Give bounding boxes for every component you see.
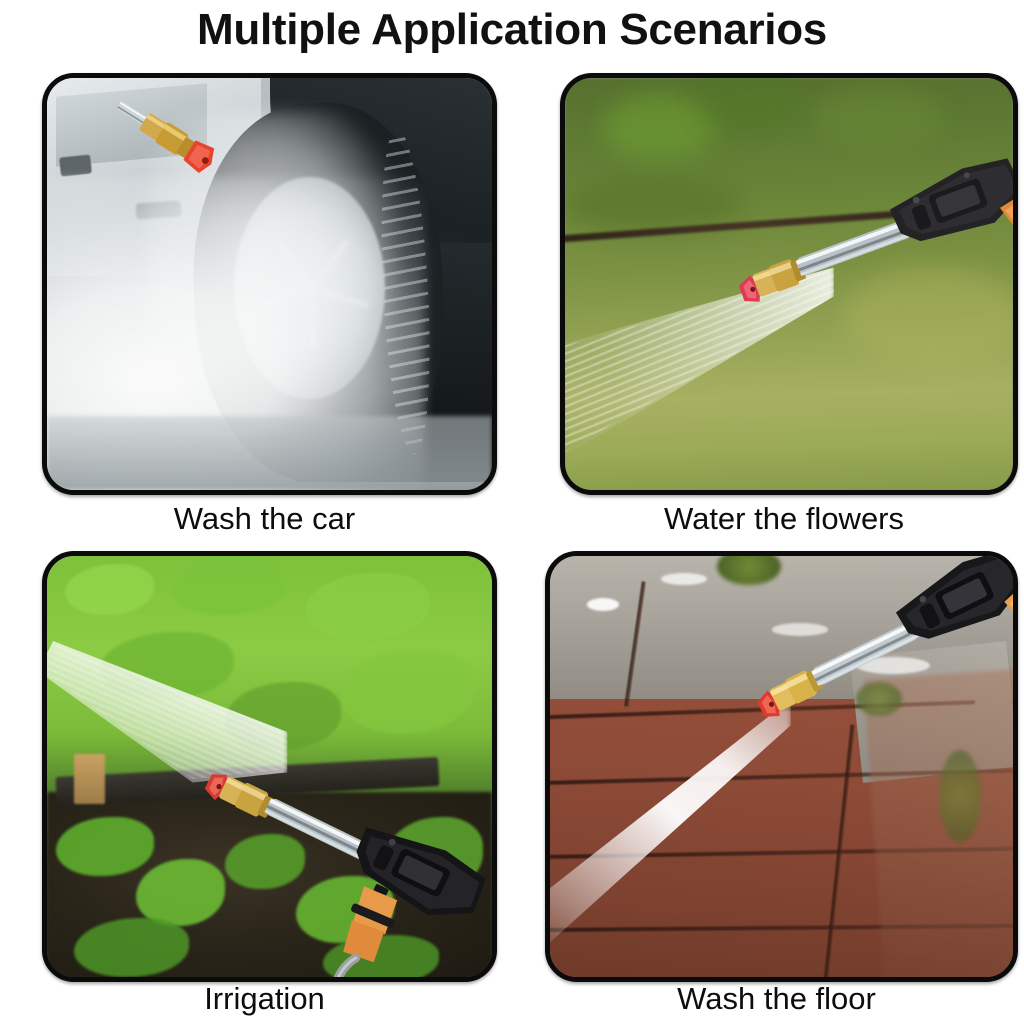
caption-wash-the-car: Wash the car bbox=[42, 500, 487, 538]
panel-wash-the-car bbox=[42, 73, 497, 495]
wooden-post bbox=[74, 754, 105, 805]
scene-water-the-flowers bbox=[565, 78, 1013, 490]
moss-patch bbox=[939, 750, 981, 843]
caption-irrigation: Irrigation bbox=[42, 980, 487, 1018]
scene-wash-the-floor bbox=[550, 556, 1013, 977]
page-title: Multiple Application Scenarios bbox=[0, 2, 1024, 58]
caption-water-the-flowers: Water the flowers bbox=[560, 500, 1008, 538]
panel-water-the-flowers bbox=[560, 73, 1018, 495]
foliage-blur bbox=[811, 86, 945, 148]
panel-irrigation bbox=[42, 551, 497, 982]
scene-irrigation bbox=[47, 556, 492, 977]
caption-wash-the-floor: Wash the floor bbox=[545, 980, 1008, 1018]
infographic-root: Multiple Application Scenarios bbox=[0, 0, 1024, 1024]
scene-wash-the-car bbox=[47, 78, 492, 490]
wet-ground bbox=[47, 416, 492, 490]
car-door-handle bbox=[59, 155, 92, 177]
water-splash bbox=[587, 598, 619, 611]
panel-wash-the-floor bbox=[545, 551, 1018, 982]
